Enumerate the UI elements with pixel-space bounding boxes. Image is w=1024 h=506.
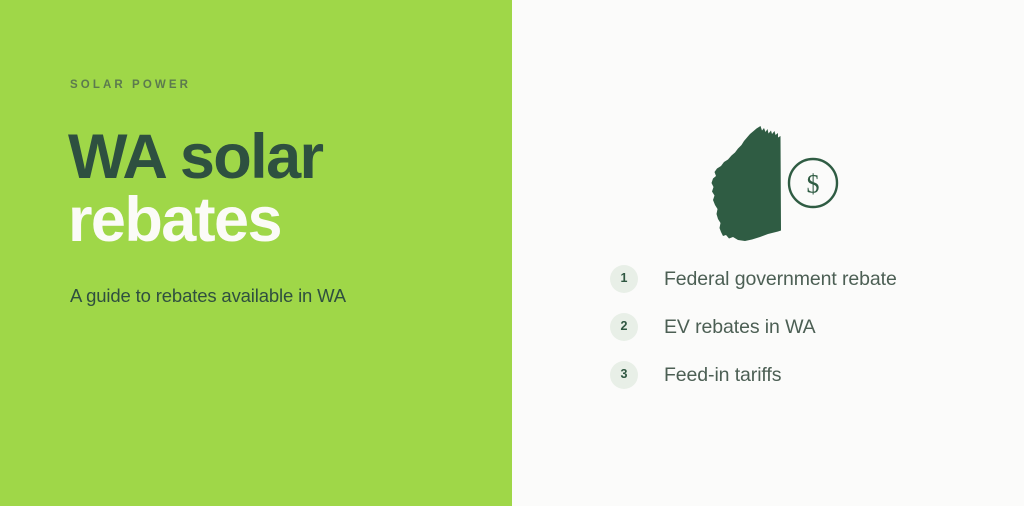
page-title: WA solar rebates [68, 126, 488, 252]
list-item-number-badge: 1 [610, 265, 638, 293]
list-item-number-badge: 2 [610, 313, 638, 341]
page-subtitle: A guide to rebates available in WA [70, 284, 346, 308]
eyebrow-category-label: SOLAR POWER [70, 78, 191, 92]
list-item[interactable]: 1 Federal government rebate [610, 262, 1010, 295]
svg-text:$: $ [807, 170, 820, 199]
page-title-line-2: rebates [68, 189, 488, 252]
list-item[interactable]: 2 EV rebates in WA [610, 310, 1010, 343]
western-australia-map-icon [702, 124, 792, 242]
rebate-topics-list: 1 Federal government rebate 2 EV rebates… [610, 262, 1010, 391]
page-title-line-1: WA solar [68, 126, 488, 189]
list-item-label: EV rebates in WA [664, 315, 816, 339]
list-item-label: Feed-in tariffs [664, 363, 781, 387]
right-content-panel: $ 1 Federal government rebate 2 EV rebat… [512, 0, 1024, 506]
left-green-panel: SOLAR POWER WA solar rebates A guide to … [0, 0, 512, 506]
hero-graphic: $ [702, 124, 862, 242]
list-item[interactable]: 3 Feed-in tariffs [610, 358, 1010, 391]
dollar-coin-icon: $ [786, 156, 840, 210]
list-item-label: Federal government rebate [664, 267, 897, 291]
infographic-canvas: SOLAR POWER WA solar rebates A guide to … [0, 0, 1024, 506]
list-item-number-badge: 3 [610, 361, 638, 389]
